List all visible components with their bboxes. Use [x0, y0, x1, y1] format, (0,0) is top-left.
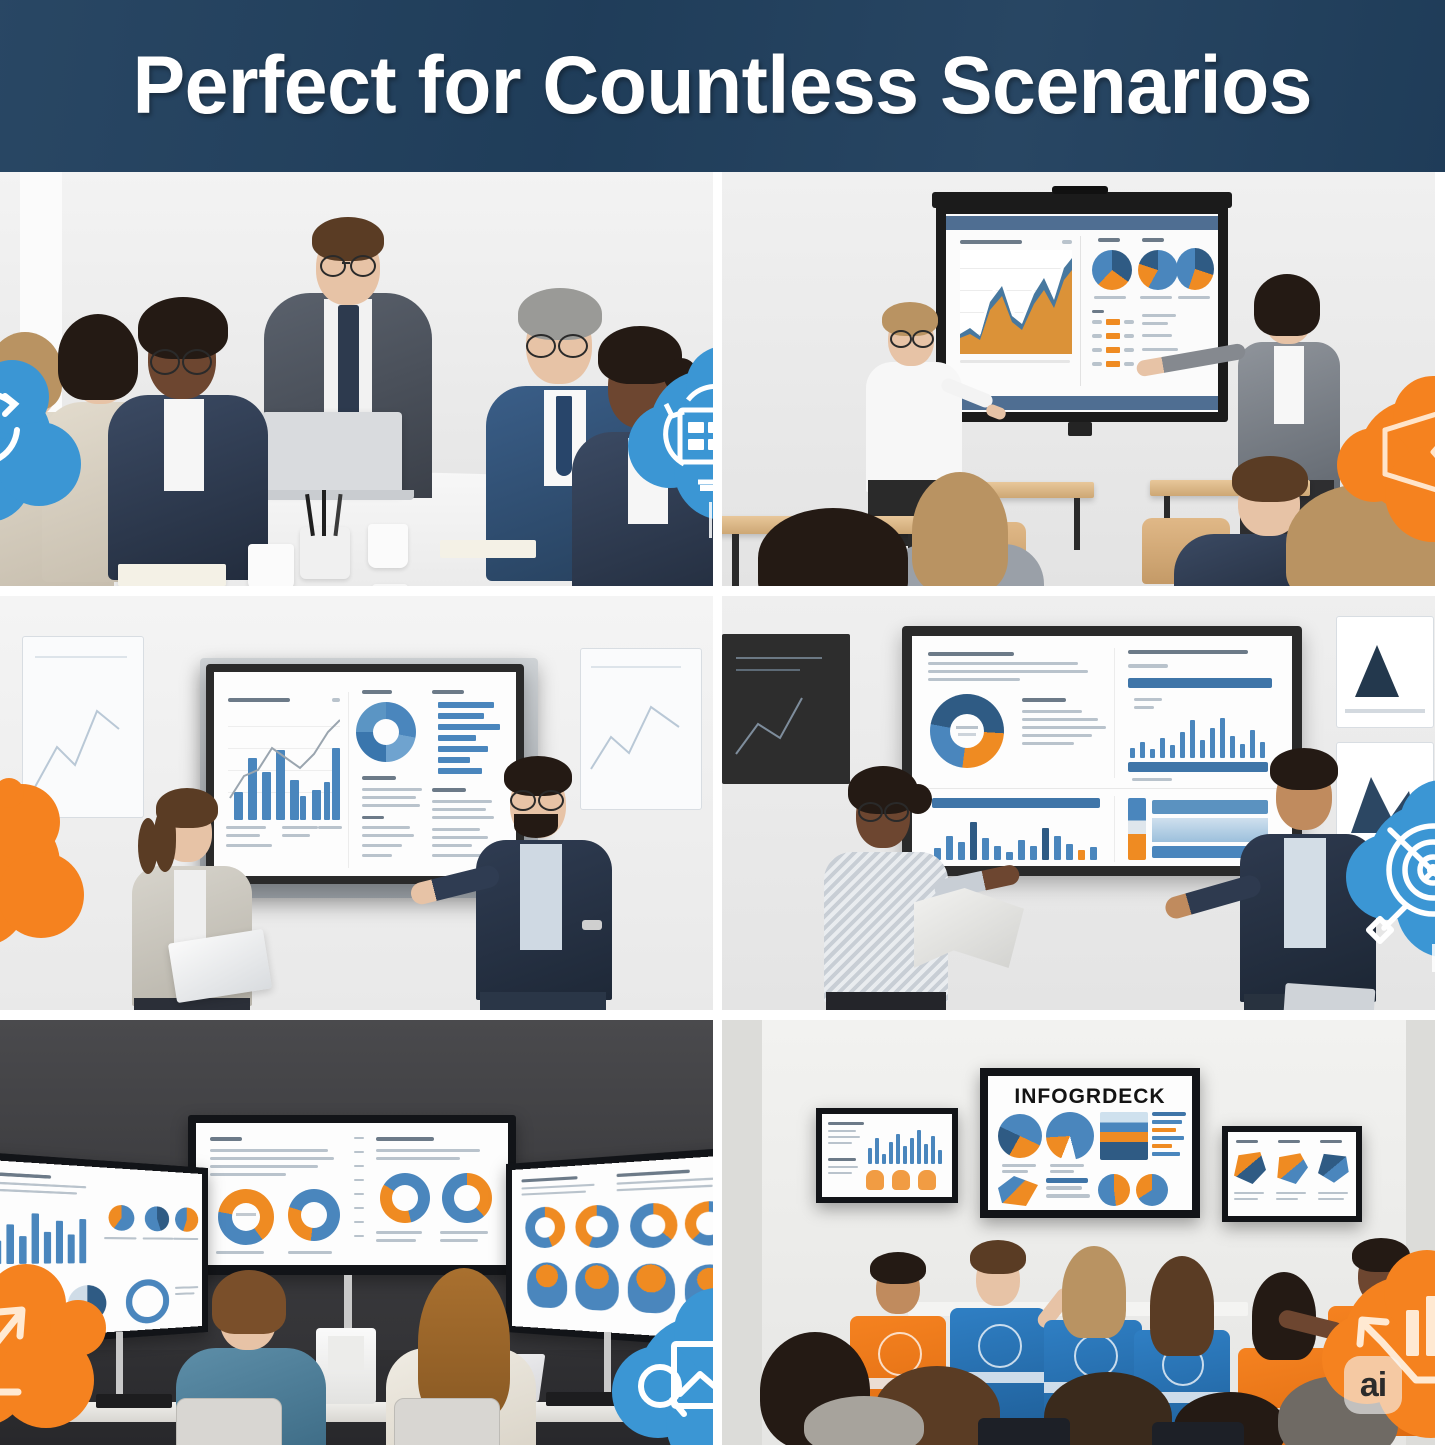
- scenario-grid: INFOGRDECK: [0, 172, 1445, 1445]
- donut-chart: [218, 1189, 274, 1245]
- main-display-slide: INFOGRDECK: [988, 1076, 1192, 1210]
- panel-classroom-projector[interactable]: [722, 172, 1435, 586]
- stacked-bar: [1128, 798, 1146, 860]
- area-chart: [1100, 1112, 1148, 1160]
- panel-volunteer-briefing[interactable]: INFOGRDECK: [722, 1020, 1435, 1445]
- pie-chart: [1176, 248, 1214, 290]
- donut-chart: [442, 1173, 492, 1223]
- donut-chart: [288, 1189, 340, 1241]
- search-chart-icon[interactable]: [612, 1282, 713, 1445]
- keyboard: [546, 1392, 618, 1406]
- coffee-cup: [368, 524, 408, 568]
- right-display-slide: [1228, 1132, 1356, 1216]
- target-arrows-icon[interactable]: [1344, 774, 1435, 970]
- refresh-cycle-icon[interactable]: [0, 352, 85, 537]
- poster-canvas: Perfect for Countless Scenarios: [0, 0, 1445, 1445]
- notepad: [440, 540, 536, 558]
- coffee-cup: [248, 544, 294, 586]
- office-chair: [394, 1398, 500, 1445]
- pie-chart: [1092, 250, 1132, 290]
- page-title: Perfect for Countless Scenarios: [133, 39, 1312, 133]
- bar-chart-arrow-icon[interactable]: [1320, 1248, 1435, 1445]
- wall-poster: [1336, 616, 1434, 728]
- projector-slide: [946, 214, 1218, 412]
- pie-chart: [1138, 250, 1178, 290]
- audience-chair: [1152, 1422, 1244, 1445]
- donut-chart: [380, 1173, 430, 1223]
- panel-dashboard-review[interactable]: [722, 596, 1435, 1010]
- puzzle-node-icon[interactable]: [0, 778, 102, 968]
- person-attendee-left-3: [108, 267, 268, 577]
- slide-title: INFOGRDECK: [1014, 1085, 1165, 1109]
- water-glass: [372, 584, 408, 586]
- megaphone-icon[interactable]: [1337, 372, 1435, 550]
- ai-watermark-badge: ai: [1344, 1356, 1402, 1414]
- panel-boardroom-meeting[interactable]: [0, 172, 713, 586]
- left-display-slide: [822, 1114, 952, 1197]
- panel-whiteboard-presentation[interactable]: [0, 596, 713, 1010]
- panel-multi-screen-command-center[interactable]: [0, 1020, 713, 1445]
- audience-member: [758, 508, 908, 586]
- laptop: [262, 412, 402, 492]
- pie-chart: [998, 1114, 1042, 1158]
- growth-arrow-icon[interactable]: [0, 1260, 110, 1445]
- display-stand: [116, 1332, 123, 1402]
- center-display-slide: [196, 1123, 508, 1265]
- person-presenter-man: [462, 744, 622, 1010]
- poster-header: Perfect for Countless Scenarios: [0, 0, 1445, 172]
- presentation-screen-icon[interactable]: [620, 342, 713, 540]
- person-presenter-woman: [812, 756, 962, 1010]
- office-chair: [176, 1398, 282, 1445]
- pie-chart: [1046, 1112, 1094, 1160]
- audience-chair: [978, 1418, 1070, 1445]
- notepad: [118, 564, 226, 586]
- donut-chart: [356, 702, 416, 762]
